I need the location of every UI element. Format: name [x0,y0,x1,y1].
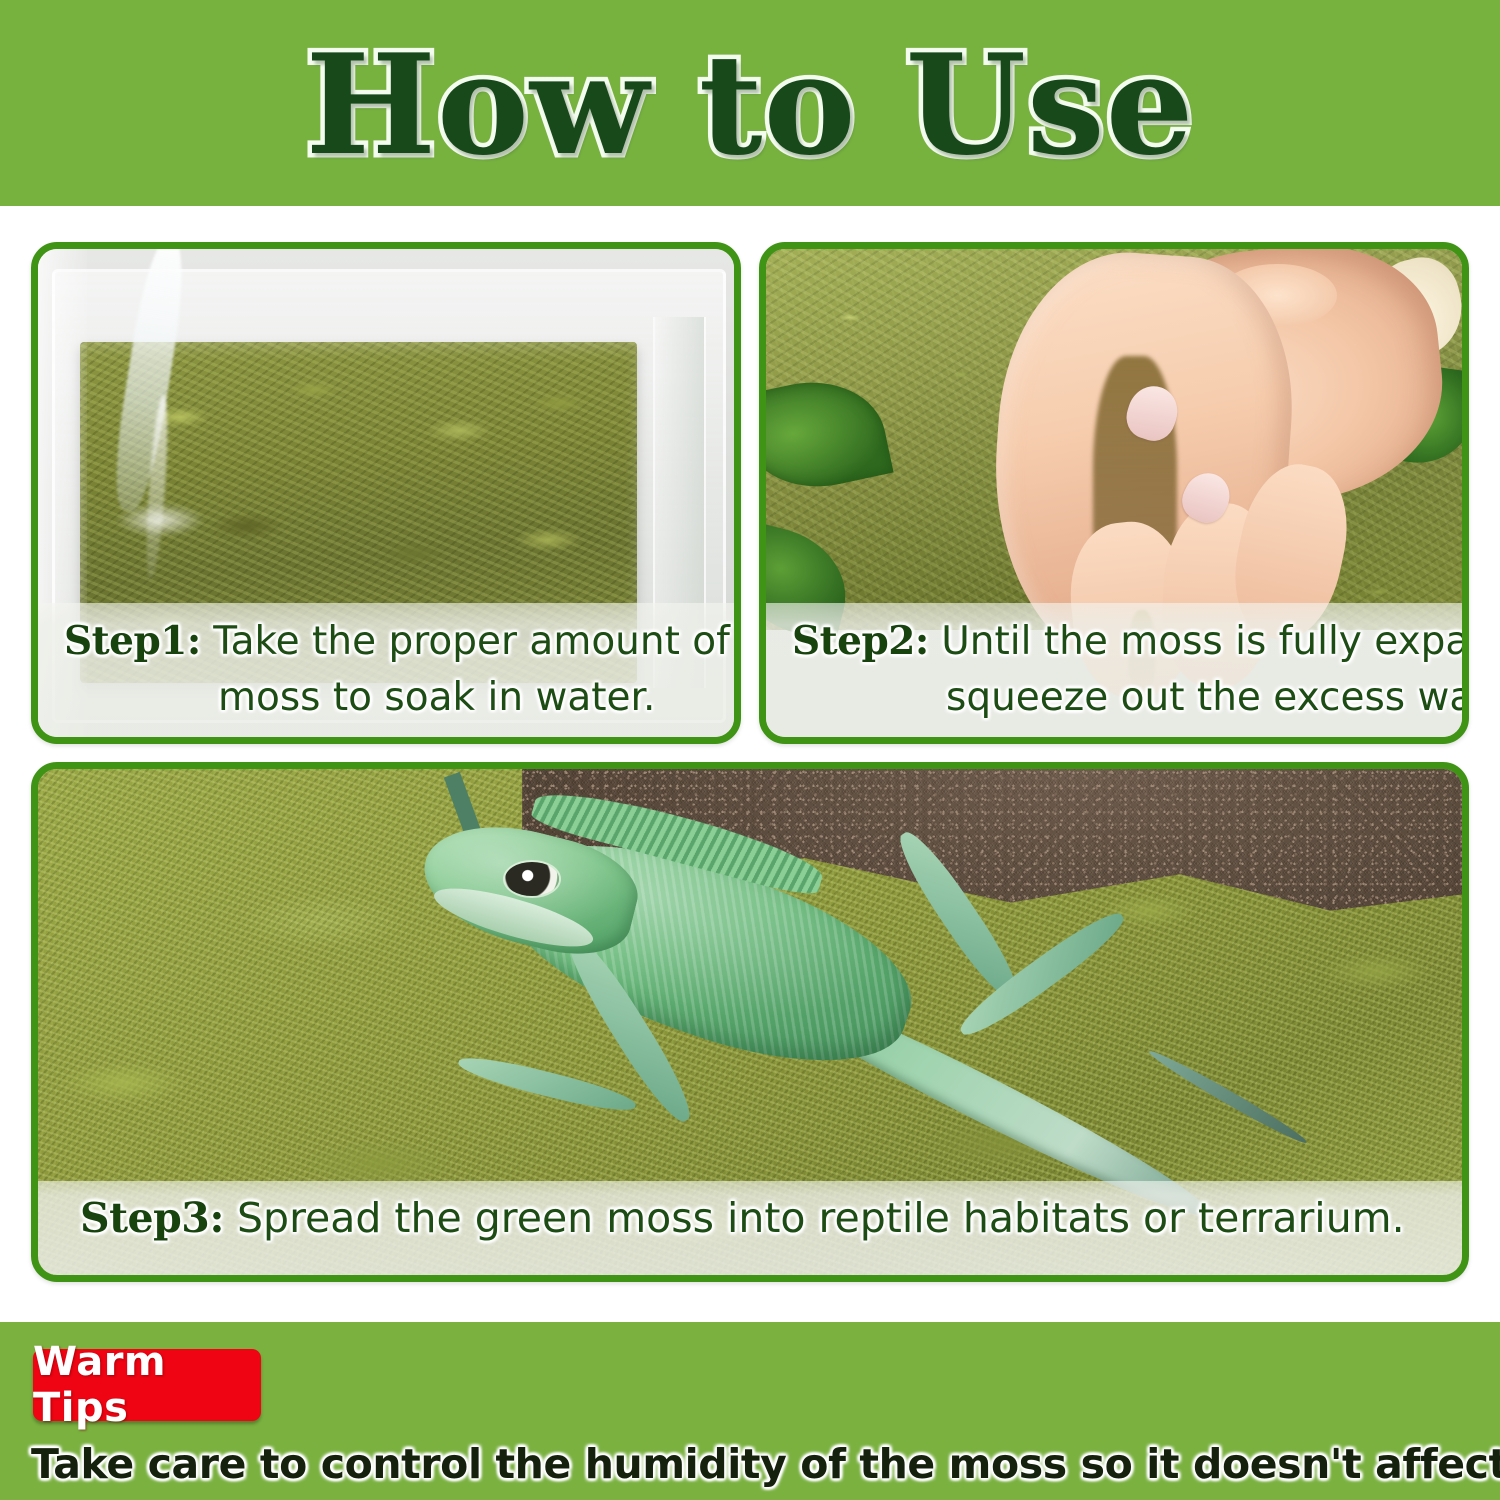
step-card-3: Step3: Spread the green moss into reptil… [31,762,1469,1282]
step1-text-line2: moss to soak in water. [38,670,734,726]
warm-tips-badge-label: Warm Tips [33,1339,261,1431]
step-card-2: Step2: Until the moss is fully expanded,… [759,242,1469,744]
step3-label: Step3: [80,1194,224,1242]
step3-caption: Step3: Spread the green moss into reptil… [38,1181,1462,1275]
warm-tips-badge: Warm Tips [33,1349,261,1421]
page-title: How to Use [306,36,1195,174]
step2-caption: Step2: Until the moss is fully expanded,… [766,603,1462,737]
step1-text-line1: Take the proper amount of [213,619,730,664]
warm-tips-text: Take care to control the humidity of the… [31,1440,1471,1488]
infographic-page: How to Use Step1: Take the proper amount… [0,0,1500,1500]
lizard-eye [505,862,559,896]
header-banner: How to Use [0,0,1500,206]
lizard [422,809,1248,1183]
lizard-front-foot [455,1050,637,1118]
steps-area: Step1: Take the proper amount of moss to… [0,206,1500,1322]
step2-label: Step2: [792,618,929,664]
step-card-1: Step1: Take the proper amount of moss to… [31,242,741,744]
water-splash [115,503,205,537]
step2-text-line1: Until the moss is fully expanded, [941,619,1469,664]
step1-label: Step1: [64,618,201,664]
warm-tips-band: Warm Tips Take care to control the humid… [0,1322,1500,1500]
step1-caption: Step1: Take the proper amount of moss to… [38,603,734,737]
step2-text-line2: squeeze out the excess water. [766,670,1462,726]
step3-text-line1: Spread the green moss into reptile habit… [237,1194,1405,1242]
